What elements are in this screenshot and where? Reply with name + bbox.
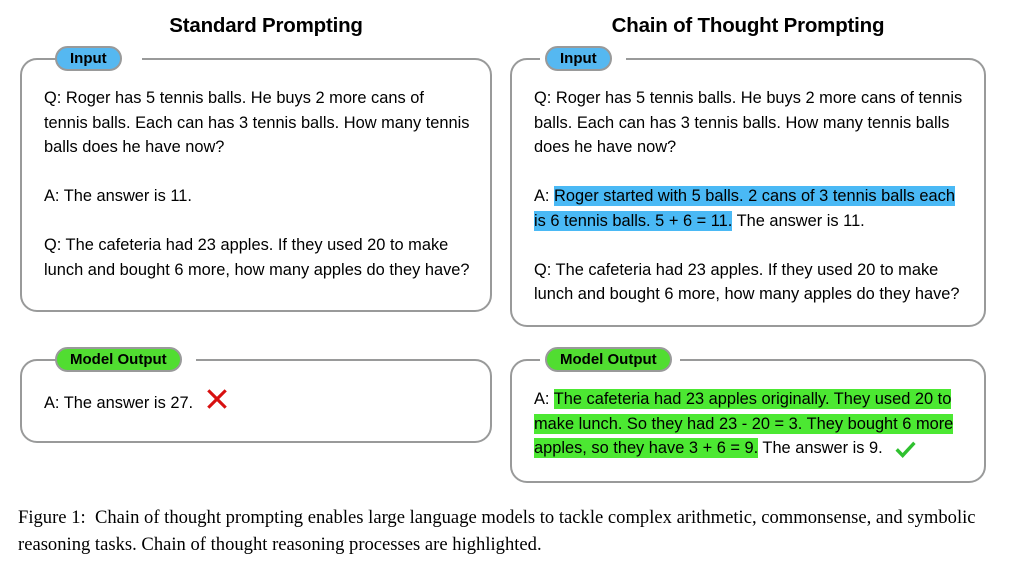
figure-caption: Figure 1: Chain of thought prompting ena… [18, 504, 1008, 558]
paragraph: Q: The cafeteria had 23 apples. If they … [534, 258, 966, 307]
standard-prompting-input-text: Q: Roger has 5 tennis balls. He buys 2 m… [44, 86, 472, 282]
paragraph: A: The cafeteria had 23 apples originall… [534, 387, 966, 464]
chain-of-thought-output-text: A: The cafeteria had 23 apples originall… [534, 387, 966, 464]
chain-of-thought-input-text: Q: Roger has 5 tennis balls. He buys 2 m… [534, 86, 966, 307]
figure-caption-text: Chain of thought prompting enables large… [18, 507, 976, 555]
column-title-chain-of-thought-prompting: Chain of Thought Prompting [510, 14, 986, 38]
paragraph: A: The answer is 27. [44, 387, 472, 419]
paragraph: A: Roger started with 5 balls. 2 cans of… [534, 184, 966, 233]
badge-model-output-standard: Model Output [55, 347, 182, 372]
figure-container: Standard Prompting Q: Roger has 5 tennis… [0, 0, 1023, 584]
badge-input-chain-of-thought: Input [545, 46, 612, 71]
badge-input-standard: Input [55, 46, 122, 71]
paragraph: A: The answer is 11. [44, 184, 472, 209]
badge-model-output-chain-of-thought: Model Output [545, 347, 672, 372]
paragraph: Q: Roger has 5 tennis balls. He buys 2 m… [534, 86, 966, 160]
chain-of-thought-output-panel: A: The cafeteria had 23 apples originall… [510, 359, 986, 483]
chain-of-thought-input-panel: Q: Roger has 5 tennis balls. He buys 2 m… [510, 58, 986, 327]
cross-icon [205, 387, 229, 419]
column-title-standard-prompting: Standard Prompting [20, 14, 512, 38]
paragraph: Q: Roger has 5 tennis balls. He buys 2 m… [44, 86, 472, 160]
figure-caption-label: Figure 1: [18, 507, 86, 528]
standard-prompting-input-panel: Q: Roger has 5 tennis balls. He buys 2 m… [20, 58, 492, 312]
standard-prompting-output-text: A: The answer is 27. [44, 387, 472, 419]
chain-of-thought-highlight: The cafeteria had 23 apples originally. … [534, 389, 953, 458]
paragraph: Q: The cafeteria had 23 apples. If they … [44, 233, 472, 282]
check-icon [894, 439, 917, 464]
